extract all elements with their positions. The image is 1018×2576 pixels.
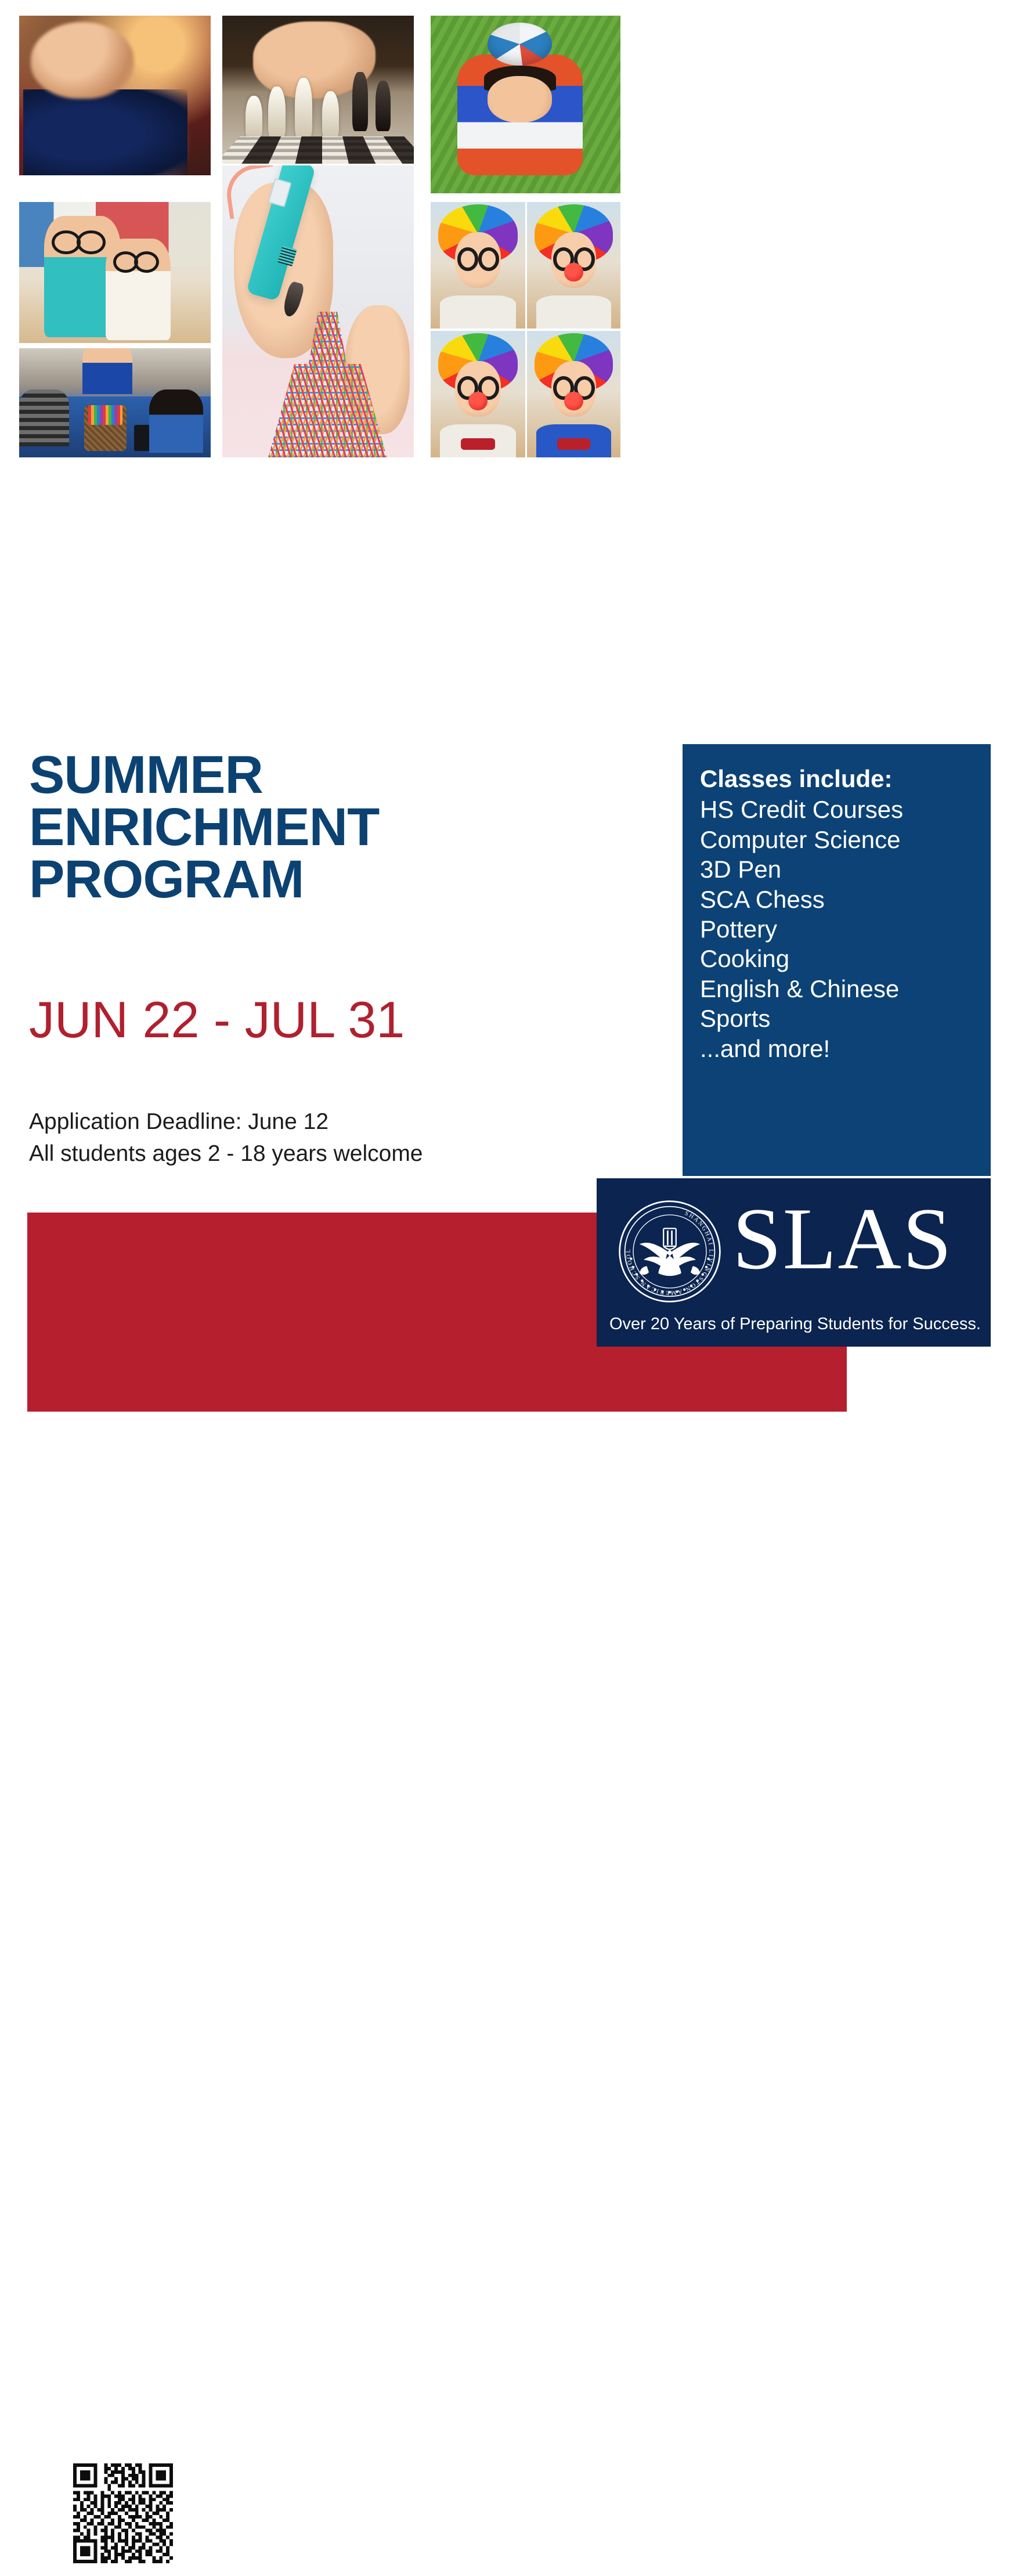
qr-code[interactable] [63, 2453, 182, 2574]
program-dates: JUN 22 - JUL 31 [29, 994, 405, 1045]
email-link[interactable]: SUMMERSCHOOL@LASCHINA.ORG [228, 2484, 927, 2511]
slas-logo-box: SHANGHAI LIVINGSTON AMERICAN SCHOOL [597, 1178, 991, 1347]
slas-seal-icon: SHANGHAI LIVINGSTON AMERICAN SCHOOL [618, 1199, 722, 1304]
class-item-and-more: ...and more! [700, 1034, 991, 1063]
class-item-3d-pen: 3D Pen [700, 854, 991, 884]
classes-include-box: Classes include: HS Credit Courses Compu… [683, 744, 991, 1176]
age-range: All students ages 2 - 18 years welcome [29, 1138, 423, 1170]
headline-line-1: SUMMER [29, 749, 435, 801]
school-address: SHANGHAI LIVINGSTON AMERICAN SCHOOL | 58… [228, 2559, 927, 2576]
application-deadline: Application Deadline: June 12 [29, 1106, 423, 1138]
qr-code-icon [73, 2463, 173, 2563]
chess-photo [222, 16, 414, 164]
slas-acronym: SLAS [732, 1195, 953, 1283]
headline-line-2: ENRICHMENT [29, 801, 435, 853]
cooking-egg-photo [19, 16, 211, 175]
classes-heading: Classes include: [700, 764, 991, 793]
class-item-pottery: Pottery [700, 914, 991, 944]
class-item-cooking: Cooking [700, 944, 991, 973]
classroom-glasses-photo [19, 202, 211, 343]
arts-crafts-photo [19, 348, 211, 457]
class-item-computer-science: Computer Science [700, 825, 991, 854]
phone-number[interactable]: TEL: (021) 5218-8575 [228, 2518, 927, 2549]
class-item-sports: Sports [700, 1004, 991, 1033]
contact-details: WWW.LASCHINA.ORG SUMMERSCHOOL@LASCHINA.O… [228, 2449, 927, 2576]
class-item-sca-chess: SCA Chess [700, 885, 991, 914]
3d-pen-photo [222, 165, 414, 457]
page-title: SUMMER ENRICHMENT PROGRAM [29, 749, 435, 905]
poster-root: SUMMER ENRICHMENT PROGRAM JUN 22 - JUL 3… [0, 0, 1018, 1439]
headline-line-3: PROGRAM [29, 853, 435, 905]
clown-photo-4 [527, 331, 620, 457]
soccer-photo [431, 16, 620, 193]
clown-photo-1 [431, 202, 525, 329]
clown-photo-3 [431, 331, 525, 457]
class-item-english-chinese: English & Chinese [700, 974, 991, 1004]
class-item-hs-credit-courses: HS Credit Courses [700, 795, 991, 824]
clown-photo-2 [527, 202, 620, 329]
slas-tagline: Over 20 Years of Preparing Students for … [609, 1315, 981, 1334]
program-details: Application Deadline: June 12 All studen… [29, 1106, 423, 1170]
website-link[interactable]: WWW.LASCHINA.ORG [228, 2449, 927, 2480]
